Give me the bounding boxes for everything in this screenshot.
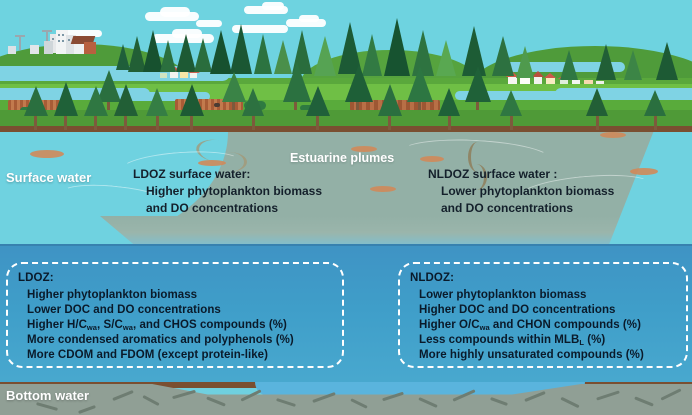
building (42, 30, 52, 32)
shoal (30, 150, 64, 158)
tree-icon (314, 36, 336, 76)
tree-icon (180, 84, 204, 116)
nldoz-box-line: Less compounds within MLBL (%) (410, 333, 676, 348)
tree-icon (254, 34, 272, 74)
nldoz-surface-line-1: Lower phytoplankton biomass (428, 183, 614, 200)
ldoz-box-line: More condensed aromatics and polyphenols… (18, 333, 332, 348)
building-window (62, 34, 64, 36)
tree-icon (560, 50, 578, 80)
tree-icon (492, 36, 514, 76)
cloud-icon (160, 7, 190, 17)
tree-icon (407, 66, 433, 102)
tree-icon (306, 86, 330, 116)
tree-icon (210, 30, 232, 74)
tree-icon (586, 88, 608, 116)
tree-icon (160, 40, 176, 72)
figure-canvas: Surface water Estuarine plumes LDOZ surf… (0, 0, 692, 415)
building (84, 42, 96, 54)
ldoz-box[interactable]: LDOZ: Higher phytoplankton biomass Lower… (6, 262, 344, 368)
tree-icon (436, 40, 456, 76)
nldoz-box-line: Higher O/Cwa and CHON compounds (%) (410, 318, 676, 333)
tree-icon (516, 46, 534, 78)
nldoz-box-line: Lower phytoplankton biomass (410, 288, 676, 303)
building-window (58, 34, 60, 36)
nldoz-box[interactable]: NLDOZ: Lower phytoplankton biomass Highe… (398, 262, 688, 368)
nldoz-box-line: More highly unsaturated compounds (%) (410, 348, 676, 363)
nldoz-box-line: Higher DOC and DO concentrations (410, 303, 676, 318)
tree-icon (624, 50, 642, 80)
building-window (58, 40, 60, 42)
tree-icon (176, 34, 196, 72)
ldoz-box-title: LDOZ: (18, 271, 332, 285)
tree-icon (656, 42, 678, 80)
building (15, 35, 25, 37)
ldoz-surface-line-2: and DO concentrations (133, 200, 322, 217)
ldoz-surface-callout: LDOZ surface water: Higher phytoplankton… (133, 166, 322, 217)
tree-icon (146, 88, 168, 116)
house (180, 72, 188, 78)
building (44, 41, 53, 54)
nldoz-surface-title: NLDOZ surface water : (428, 166, 614, 183)
tree-icon (242, 88, 264, 116)
estuarine-plumes-label: Estuarine plumes (290, 151, 394, 165)
nldoz-surface-callout: NLDOZ surface water : Lower phytoplankto… (428, 166, 614, 217)
tree-icon (644, 90, 666, 116)
building-window (62, 40, 64, 42)
surface-water-label: Surface water (6, 170, 91, 185)
plume-sediment-blob (370, 186, 396, 192)
cloud-icon (299, 15, 319, 22)
tree-icon (378, 84, 402, 116)
house (190, 73, 197, 78)
ldoz-surface-line-1: Higher phytoplankton biomass (133, 183, 322, 200)
cloud-icon (196, 20, 222, 27)
tree-icon (114, 84, 138, 116)
nldoz-surface-line-2: and DO concentrations (428, 200, 614, 217)
plume-sediment-blob (420, 156, 444, 162)
water-layer-divider (0, 244, 692, 246)
ldoz-box-line: Higher phytoplankton biomass (18, 288, 332, 303)
house (170, 71, 178, 78)
tree-icon (500, 90, 522, 116)
tree-icon (230, 24, 252, 74)
ldoz-box-line: More CDOM and FDOM (except protein-like) (18, 348, 332, 363)
tree-icon (24, 86, 48, 116)
cloud-icon (262, 2, 284, 10)
bottom-water-label: Bottom water (6, 388, 89, 403)
nldoz-box-title: NLDOZ: (410, 271, 676, 285)
building (30, 45, 39, 54)
house (160, 73, 167, 78)
mid-river (555, 88, 692, 100)
sediment-bed-lower (0, 396, 692, 415)
building-window (52, 38, 54, 40)
building (19, 36, 21, 50)
ldoz-box-line: Lower DOC and DO concentrations (18, 303, 332, 318)
tree-icon (438, 88, 460, 116)
cow (214, 103, 220, 107)
estuarine-plume-bottom (100, 216, 692, 246)
tree-icon (465, 66, 491, 102)
tree-icon (84, 86, 108, 116)
plume-sediment-blob (630, 168, 658, 175)
building (8, 46, 16, 54)
plume-sediment-blob (600, 132, 626, 138)
tree-icon (596, 44, 616, 80)
house-roof (544, 73, 556, 78)
ldoz-surface-title: LDOZ surface water: (133, 166, 322, 183)
building-window (68, 39, 70, 41)
tree-icon (54, 82, 78, 116)
tree-icon (345, 64, 373, 102)
ldoz-box-line: Higher H/Cwa, S/Cwa, and CHOS compounds … (18, 318, 332, 333)
